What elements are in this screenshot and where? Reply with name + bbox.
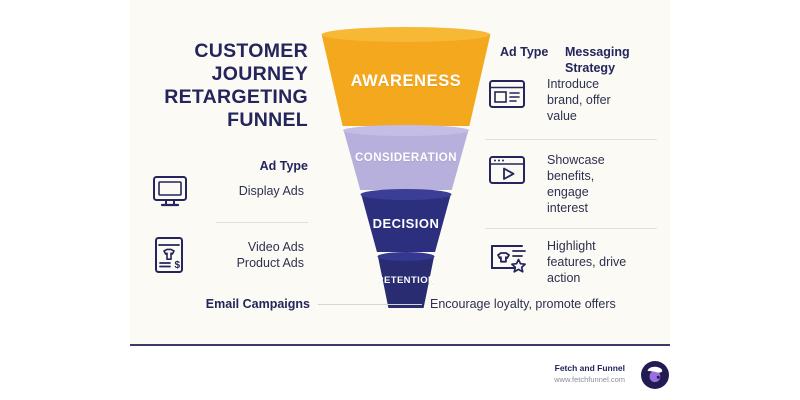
bottom-right-label: Encourage loyalty, promote offers [430, 297, 616, 311]
right-divider-1 [485, 139, 657, 140]
right-ad-type-header: Ad Type [500, 44, 548, 60]
product-listing-icon: $ [150, 234, 188, 276]
funnel-stage-decision-label: DECISION [318, 216, 494, 231]
funnel-stage-awareness-label: AWARENESS [318, 72, 494, 91]
funnel-diagram: AWARENESS CONSIDERATION DECISION RETENTI… [318, 34, 494, 296]
title-line-1: CUSTOMER [120, 40, 308, 63]
right-row-awareness[interactable]: Introduce brand, offer value [485, 76, 665, 124]
video-ad-window-icon [485, 152, 529, 190]
page-title: CUSTOMER JOURNEY RETARGETING FUNNEL [120, 40, 308, 132]
right-text-decision: Highlight features, drive action [533, 238, 629, 286]
left-label-display-ads: Display Ads [190, 183, 308, 199]
brand-block: Fetch and Funnel www.fetchfunnel.com [554, 363, 625, 385]
title-line-4: FUNNEL [120, 109, 308, 132]
display-ad-window-icon [485, 76, 529, 114]
messaging-strategy-header: Messaging Strategy [565, 44, 657, 76]
brand-url[interactable]: www.fetchfunnel.com [554, 374, 625, 385]
funnel-stage-retention-cap [378, 252, 435, 261]
funnel-stage-consideration-cap [343, 125, 469, 136]
funnel-stage-awareness[interactable]: AWARENESS [318, 34, 494, 126]
title-line-2: JOURNEY [120, 63, 308, 86]
infographic-canvas: CUSTOMER JOURNEY RETARGETING FUNNEL AWAR… [0, 0, 800, 400]
left-divider-1 [216, 222, 308, 223]
funnel-stage-decision[interactable]: DECISION [318, 194, 494, 252]
funnel-stage-awareness-cap [322, 27, 490, 42]
funnel-stage-consideration[interactable]: CONSIDERATION [318, 130, 494, 190]
left-ad-type-header: Ad Type [150, 158, 308, 174]
svg-text:$: $ [175, 260, 181, 271]
bottom-connector-line [318, 304, 422, 305]
left-row-display-ads[interactable]: Display Ads [150, 173, 308, 209]
desktop-monitor-icon [150, 173, 190, 209]
funnel-stage-consideration-label: CONSIDERATION [318, 152, 494, 164]
right-row-consideration[interactable]: Showcase benefits, engage interest [485, 152, 665, 216]
left-label-product-ads: Product Ads [188, 255, 304, 271]
right-divider-2 [485, 228, 657, 229]
right-text-consideration: Showcase benefits, engage interest [529, 152, 629, 216]
product-card-star-icon [485, 238, 533, 278]
fetch-and-funnel-logo-icon[interactable] [640, 360, 670, 390]
funnel-stage-decision-cap [361, 189, 452, 200]
title-line-3: RETARGETING [120, 86, 308, 109]
bottom-left-label: Email Campaigns [150, 297, 310, 311]
left-label-video-ads: Video Ads [188, 239, 304, 255]
funnel-stage-retention-label: RETENTION [318, 275, 494, 286]
right-row-decision[interactable]: Highlight features, drive action [485, 238, 665, 286]
right-text-awareness: Introduce brand, offer value [529, 76, 629, 124]
left-row-video-product-ads[interactable]: $ Video Ads Product Ads [150, 234, 308, 276]
brand-name: Fetch and Funnel [554, 363, 625, 374]
